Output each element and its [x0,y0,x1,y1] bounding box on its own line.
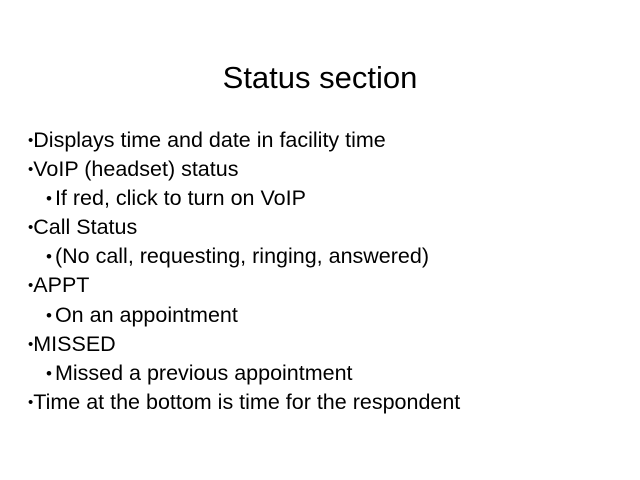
list-item-label: Displays time and date in facility time [33,128,386,152]
list-item: •Call Status [28,213,628,242]
list-item: •Missed a previous appointment [28,359,628,388]
list-item: •APPT [28,271,628,300]
list-item: •Time at the bottom is time for the resp… [28,388,628,417]
list-item-label: (No call, requesting, ringing, answered) [55,244,429,268]
bullet-icon: • [46,359,52,388]
list-item: •On an appointment [28,301,628,330]
list-item: •VoIP (headset) status [28,155,628,184]
list-item-label: Call Status [33,215,137,239]
presentation-slide: Status section •Displays time and date i… [0,0,640,480]
bullet-list: •Displays time and date in facility time… [28,126,628,417]
list-item: •(No call, requesting, ringing, answered… [28,242,628,271]
list-item-label: If red, click to turn on VoIP [55,186,306,210]
bullet-icon: • [46,242,52,271]
bullet-icon: • [46,184,52,213]
list-item: •Displays time and date in facility time [28,126,628,155]
list-item-label: MISSED [33,332,115,356]
list-item-label: Missed a previous appointment [55,361,353,385]
list-item: •MISSED [28,330,628,359]
bullet-icon: • [46,301,52,330]
list-item-label: VoIP (headset) status [33,157,238,181]
list-item-label: Time at the bottom is time for the respo… [33,390,460,414]
list-item-label: On an appointment [55,303,238,327]
list-item-label: APPT [33,273,89,297]
list-item: •If red, click to turn on VoIP [28,184,628,213]
page-title: Status section [0,59,640,97]
